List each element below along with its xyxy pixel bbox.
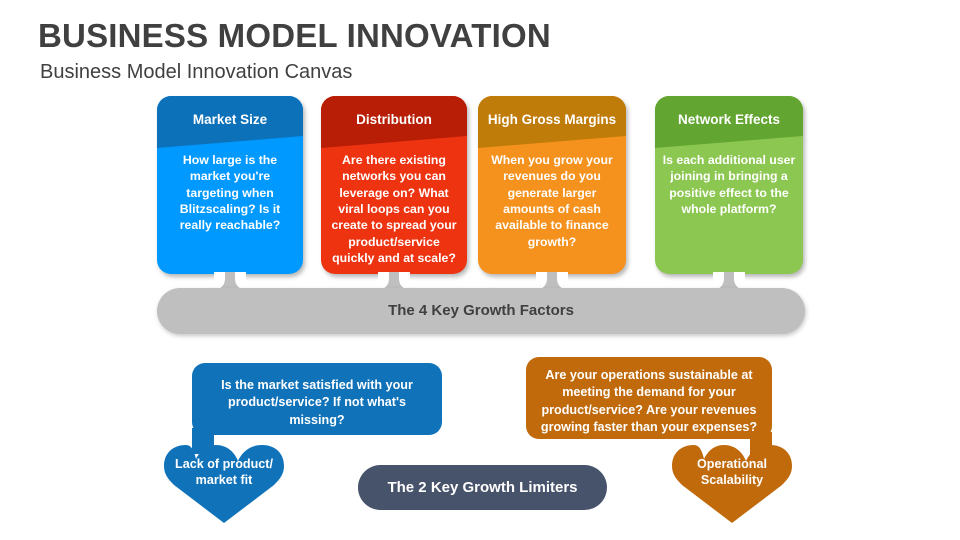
- card-body-text: How large is the market you're targeting…: [163, 152, 297, 234]
- card-title: Network Effects: [655, 113, 803, 128]
- limiter-question-text: Is the market satisfied with your produc…: [202, 377, 432, 429]
- page-subtitle: Business Model Innovation Canvas: [40, 61, 352, 84]
- slide-canvas: BUSINESS MODEL INNOVATION Business Model…: [0, 0, 960, 540]
- limiter-pin-lack-of-product-market-fit[interactable]: Lack of product/ market fit: [162, 443, 286, 525]
- card-title: Market Size: [157, 113, 303, 128]
- growth-factor-card-distribution[interactable]: Distribution Are there existing networks…: [321, 96, 467, 274]
- limiter-pin-label: Lack of product/ market fit: [166, 456, 282, 489]
- card-title: High Gross Margins: [478, 113, 626, 128]
- growth-factors-bar-label: The 4 Key Growth Factors: [157, 302, 805, 319]
- card-title: Distribution: [321, 113, 467, 128]
- page-title: BUSINESS MODEL INNOVATION: [38, 17, 551, 55]
- growth-factor-card-high-gross-margins[interactable]: High Gross Margins When you grow your re…: [478, 96, 626, 274]
- growth-limiters-pill-label: The 2 Key Growth Limiters: [358, 479, 607, 496]
- growth-limiters-pill[interactable]: The 2 Key Growth Limiters: [358, 465, 607, 510]
- limiter-pin-label: Operational Scalability: [674, 456, 790, 489]
- limiter-question-text: Are your operations sustainable at meeti…: [536, 367, 762, 437]
- growth-factors-bar[interactable]: The 4 Key Growth Factors: [157, 288, 805, 334]
- card-body-text: Are there existing networks you can leve…: [327, 152, 461, 266]
- card-body-text: Is each additional user joining in bring…: [661, 152, 797, 217]
- card-body-text: When you grow your revenues do you gener…: [484, 152, 620, 250]
- limiter-pin-operational-scalability[interactable]: Operational Scalability: [670, 443, 794, 525]
- limiter-bubble-product-market-fit[interactable]: Is the market satisfied with your produc…: [192, 363, 442, 435]
- growth-factor-card-network-effects[interactable]: Network Effects Is each additional user …: [655, 96, 803, 274]
- growth-factor-card-market-size[interactable]: Market Size How large is the market you'…: [157, 96, 303, 274]
- limiter-bubble-operational-scalability[interactable]: Are your operations sustainable at meeti…: [526, 357, 772, 439]
